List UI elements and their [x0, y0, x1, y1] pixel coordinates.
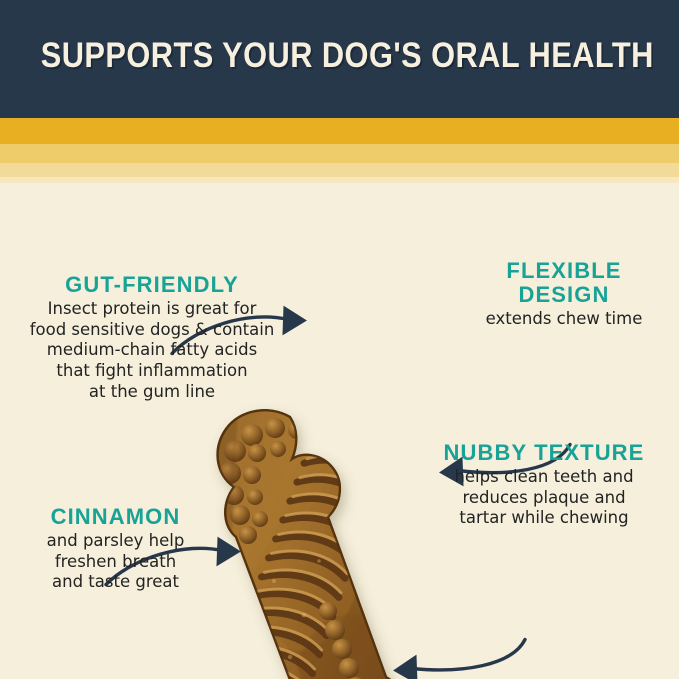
page-title: SUPPORTS YOUR DOG'S ORAL HEALTH — [41, 36, 639, 76]
feature-nubby-texture-heading: NUBBY TEXTURE — [418, 441, 670, 465]
feature-gut-friendly: GUT-FRIENDLY Insect protein is great for… — [12, 273, 292, 403]
feature-flexible-design-heading: FLEXIBLE DESIGN — [452, 259, 676, 307]
feature-line: freshen breath — [8, 552, 223, 573]
feature-line: medium-chain fatty acids — [12, 340, 292, 361]
feature-flexible-design: FLEXIBLE DESIGN extends chew time — [452, 259, 676, 330]
content-stage: GUT-FRIENDLY Insect protein is great for… — [0, 183, 679, 679]
feature-gut-friendly-body: Insect protein is great for food sensiti… — [12, 299, 292, 403]
gold-stripe — [0, 118, 679, 144]
feature-line: at the gum line — [12, 382, 292, 403]
feature-cinnamon: CINNAMON and parsley help freshen breath… — [8, 505, 223, 593]
feature-line: that fight inflammation — [12, 361, 292, 382]
feature-line: tartar while chewing — [418, 508, 670, 529]
feature-cinnamon-body: and parsley help freshen breath and tast… — [8, 531, 223, 593]
feature-flexible-design-body: extends chew time — [452, 309, 676, 330]
heading-line: DESIGN — [452, 283, 676, 307]
feature-line: Insect protein is great for — [12, 299, 292, 320]
feature-nubby-texture: NUBBY TEXTURE helps clean teeth and redu… — [418, 441, 670, 529]
feature-line: food sensitive dogs & contain — [12, 320, 292, 341]
heading-line: FLEXIBLE — [452, 259, 676, 283]
feature-line: reduces plaque and — [418, 488, 670, 509]
product-infographic: SUPPORTS YOUR DOG'S ORAL HEALTH — [0, 0, 679, 679]
feature-line: and taste great — [8, 572, 223, 593]
feature-line: and parsley help — [8, 531, 223, 552]
light-gold-stripe — [0, 163, 679, 177]
feature-nubby-texture-body: helps clean teeth and reduces plaque and… — [418, 467, 670, 529]
feature-line: extends chew time — [452, 309, 676, 330]
feature-cinnamon-heading: CINNAMON — [8, 505, 223, 529]
feature-line: helps clean teeth and — [418, 467, 670, 488]
mid-gold-stripe — [0, 144, 679, 163]
feature-gut-friendly-heading: GUT-FRIENDLY — [12, 273, 292, 297]
